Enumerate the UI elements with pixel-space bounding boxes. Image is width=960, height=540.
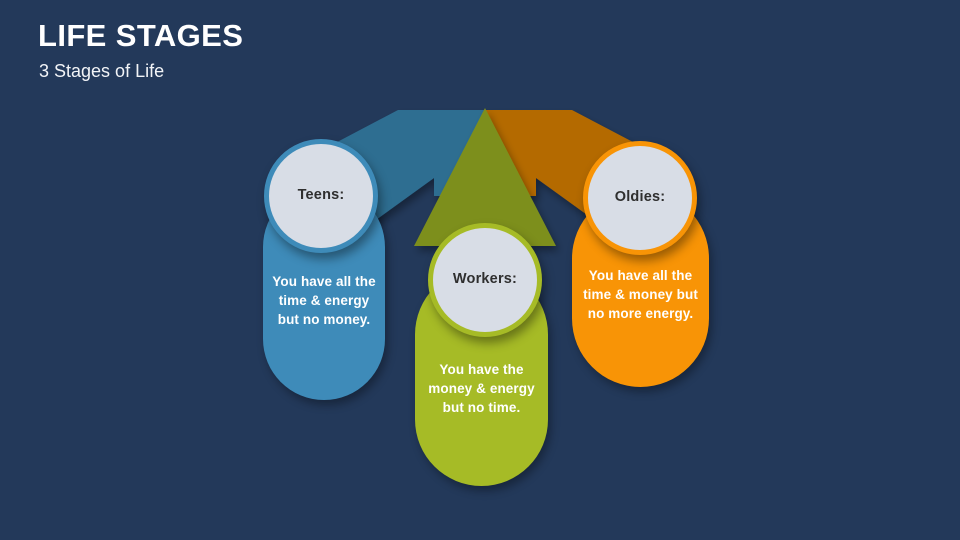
stage-label-workers: Workers: [453,271,517,287]
slide-canvas: LIFE STAGES 3 Stages of Life You have al… [0,0,960,540]
stage-badge-teens[interactable]: Teens: [264,139,378,253]
stage-body-teens: You have all the time & energy but no mo… [271,272,377,329]
stage-body-oldies: You have all the time & money but no mor… [580,266,701,323]
stage-badge-workers[interactable]: Workers: [428,223,542,337]
stage-label-oldies: Oldies: [615,189,666,205]
stage-badge-oldies[interactable]: Oldies: [583,141,697,255]
life-stages-diagram: You have all the time & energy but no mo… [0,0,960,540]
stage-body-workers: You have the money & energy but no time. [423,360,540,417]
stage-label-teens: Teens: [298,187,345,203]
